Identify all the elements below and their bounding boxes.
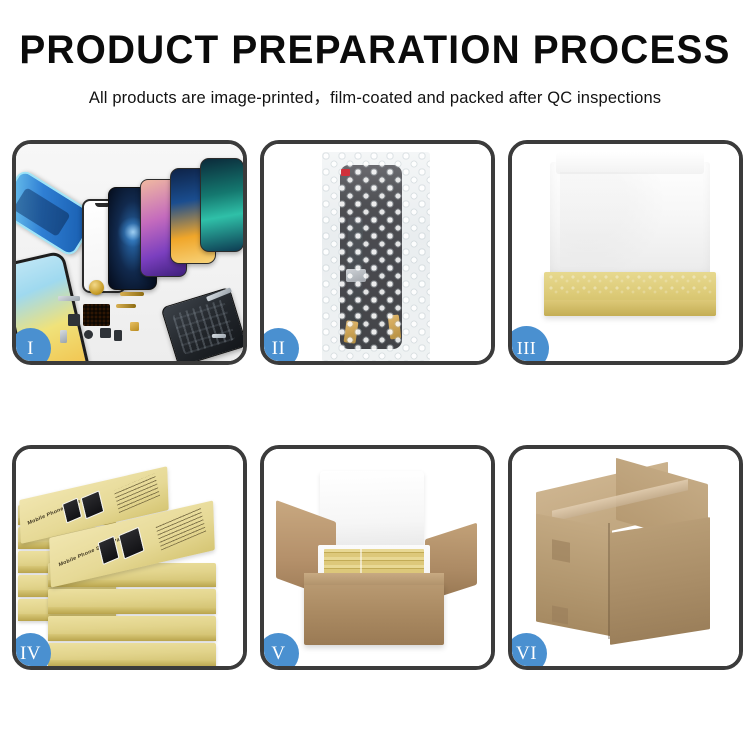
product-preparation-process-page: PRODUCT PREPARATION PROCESS All products… xyxy=(0,0,750,750)
flex-cable-icon xyxy=(120,292,144,296)
process-step-panel-6[interactable]: VI xyxy=(508,445,743,670)
box-art-screen xyxy=(81,490,105,519)
carton-tab-lower-icon xyxy=(552,605,568,624)
bubble-wrap-bag-icon xyxy=(322,152,430,361)
speaker-module-icon xyxy=(89,280,104,295)
process-step-panel-5[interactable]: V xyxy=(260,445,495,670)
box-spec-lines xyxy=(155,507,206,550)
chip-grid-icon xyxy=(83,304,110,326)
carton-side-face-icon xyxy=(610,517,710,645)
retail-box-stack-icon: Mobile Phone Spare Parts Mobile Phone Sp… xyxy=(18,467,243,657)
box-art-screen xyxy=(118,527,144,560)
page-header: PRODUCT PREPARATION PROCESS All products… xyxy=(0,0,750,108)
carton-body-icon xyxy=(304,583,444,645)
flex-cable-small-icon xyxy=(116,304,136,308)
page-title: PRODUCT PREPARATION PROCESS xyxy=(11,0,739,73)
page-subtitle: All products are image-printed，film-coat… xyxy=(0,73,750,108)
step-4-image: Mobile Phone Spare Parts Mobile Phone Sp… xyxy=(16,449,243,666)
kraft-box-front-edge xyxy=(544,300,716,316)
carton-tab-upper-icon xyxy=(552,539,570,562)
kraft-box-tray-icon xyxy=(544,272,716,316)
process-step-panel-3[interactable]: III xyxy=(508,140,743,365)
step-2-image: II xyxy=(264,144,491,361)
white-foam-liner-icon xyxy=(550,162,710,280)
process-step-panel-4[interactable]: Mobile Phone Spare Parts Mobile Phone Sp… xyxy=(12,445,247,670)
step-badge-3-label: III xyxy=(517,338,536,359)
red-qc-sticker-icon xyxy=(341,169,350,176)
sim-tray-icon xyxy=(114,330,122,341)
vibrator-part-icon xyxy=(100,328,111,338)
stacked-box xyxy=(48,616,216,641)
button-part-icon xyxy=(84,330,93,339)
screwdriver-icon xyxy=(212,334,226,338)
step-5-image: V xyxy=(264,449,491,666)
process-step-panel-1[interactable]: I xyxy=(12,140,247,365)
small-connector-icon xyxy=(60,330,67,343)
step-3-image: III xyxy=(512,144,739,361)
phone-display-teal-icon xyxy=(200,158,243,252)
foam-bubble-fill-icon xyxy=(548,274,712,296)
box-spec-lines xyxy=(114,473,160,513)
step-badge-1-label: I xyxy=(27,338,34,360)
step-6-image: VI xyxy=(512,449,739,666)
bubble-texture-overlay xyxy=(322,152,430,361)
step-badge-5-label: V xyxy=(271,643,285,665)
camera-module-icon xyxy=(68,314,80,326)
step-badge-2-label: II xyxy=(272,338,286,360)
step-badge-6-label: VI xyxy=(516,643,537,665)
step-1-image: I xyxy=(16,144,243,361)
gold-contact-icon xyxy=(130,322,139,331)
process-step-panel-2[interactable]: II xyxy=(260,140,495,365)
step-badge-4-label: IV xyxy=(20,643,41,665)
stacked-box xyxy=(48,643,216,666)
carton-front-face-icon xyxy=(536,514,612,637)
metal-bracket-icon xyxy=(58,296,80,301)
carton-corner-edge xyxy=(608,523,610,639)
stacked-box xyxy=(48,589,216,614)
